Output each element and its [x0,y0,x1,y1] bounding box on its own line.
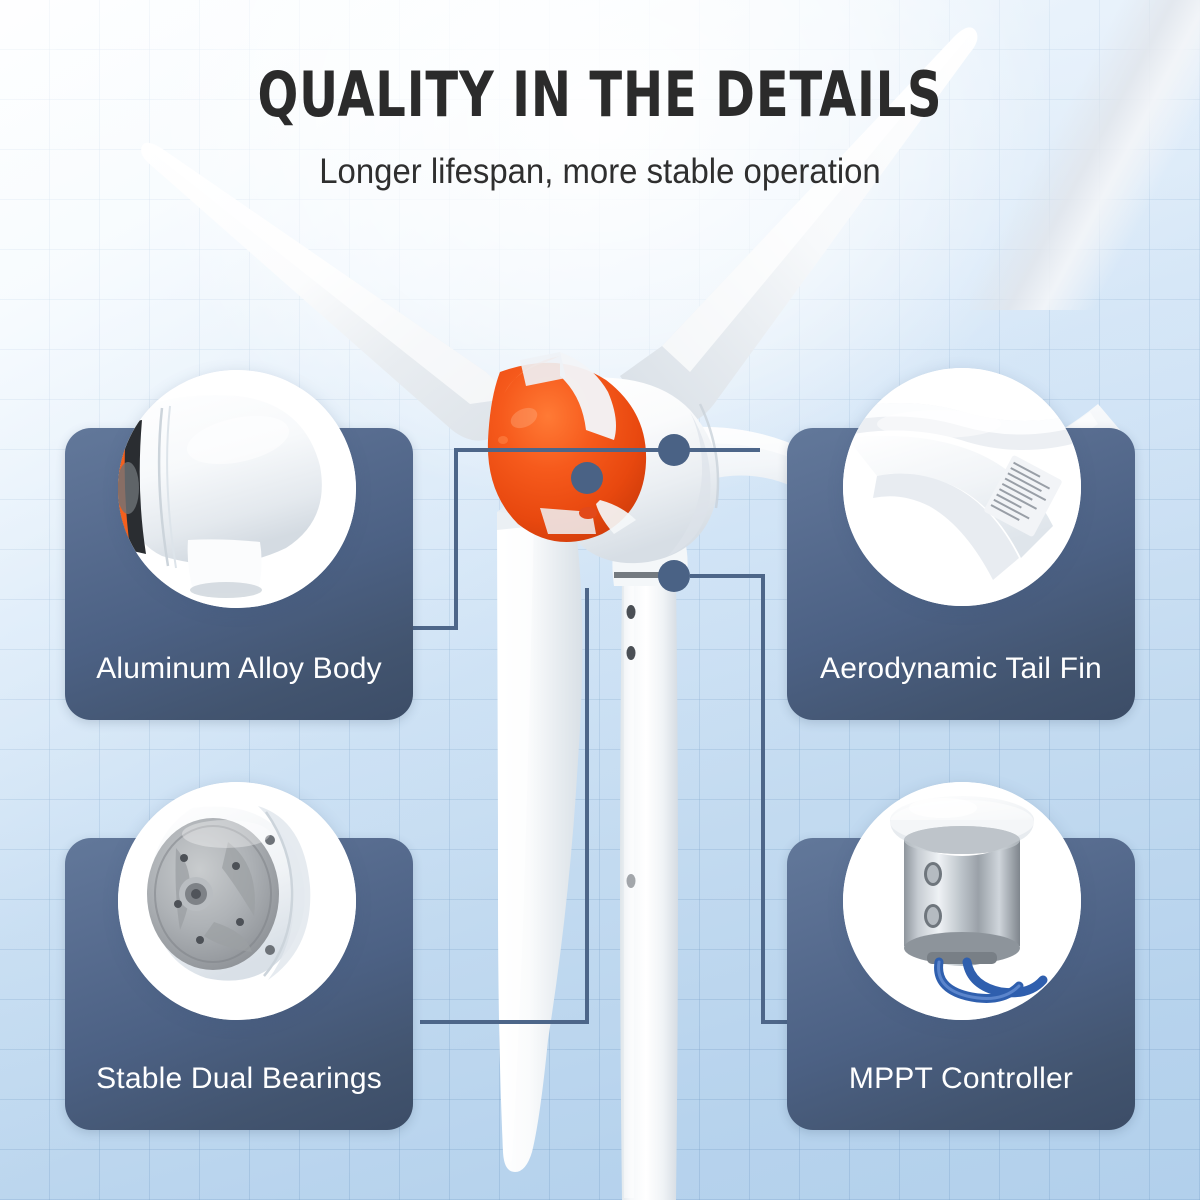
feature-label: MPPT Controller [787,1062,1135,1096]
feature-image-mppt-controller [843,782,1081,1020]
feature-label: Aluminum Alloy Body [65,652,413,686]
page-title: QUALITY IN THE DETAILS [84,58,1116,131]
page-subtitle: Longer lifespan, more stable operation [36,152,1164,192]
feature-image-stable-dual-bearings [118,782,356,1020]
feature-image-aluminum-alloy-body [118,370,356,608]
connector-aluminum-alloy-body [410,450,666,628]
hotspot-dot-collar[interactable] [658,560,690,592]
product-feature-infographic: Aluminum Alloy Body Aerodynamic Tail Fin… [0,0,1200,1200]
feature-label: Stable Dual Bearings [65,1062,413,1096]
connector-mppt-controller [690,576,790,1022]
hotspot-dot-hub-base[interactable] [571,462,603,494]
feature-label: Aerodynamic Tail Fin [787,652,1135,686]
hotspot-dot-nacelle[interactable] [658,434,690,466]
connector-stable-dual-bearings [420,588,587,1022]
feature-image-aerodynamic-tail-fin [843,368,1081,606]
